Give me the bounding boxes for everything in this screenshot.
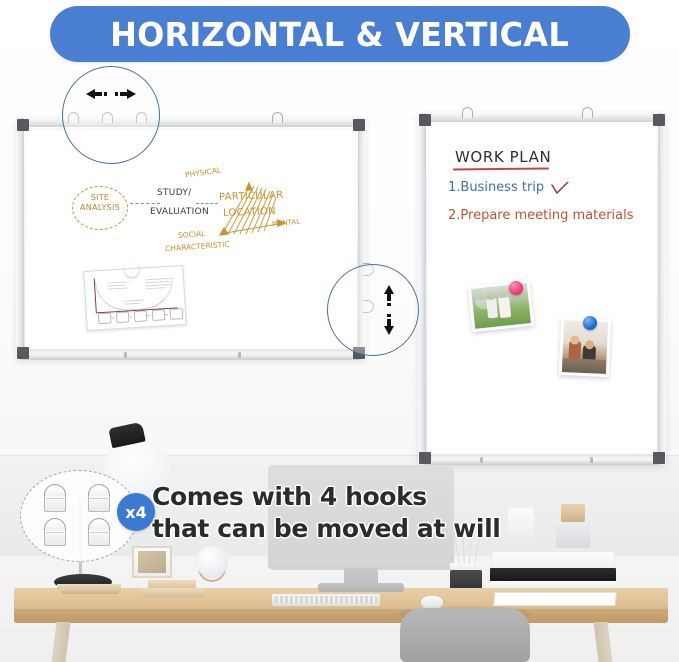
board-corner-top-left	[419, 114, 431, 126]
globe-ornament	[196, 546, 228, 578]
work-plan-item-2: 2.Prepare meeting materials	[448, 208, 634, 223]
board-corner-bottom-left	[17, 347, 29, 359]
hook-icon-slot	[46, 498, 64, 499]
board-pen-tray-vertical	[418, 456, 666, 465]
board-corner-top-right	[353, 119, 365, 131]
feature-headline-line2: that can be moved at will	[152, 513, 552, 545]
chart-note-box	[170, 308, 184, 320]
board-hook-icon[interactable]	[462, 107, 473, 118]
hook-icon-slot	[90, 498, 108, 499]
photo-family-outdoor[interactable]	[468, 280, 534, 332]
site-analysis-line1: SITE	[72, 193, 128, 203]
pen-tray-divider	[480, 457, 483, 463]
hook-icon	[38, 484, 76, 514]
board-pen-tray-horizontal	[16, 351, 366, 360]
board-hook-icon[interactable]	[582, 107, 593, 118]
hook-icon-slot	[46, 532, 64, 533]
chart-note-connector	[147, 315, 150, 316]
vertical-mount-callout	[327, 264, 419, 356]
storage-box-upper	[561, 504, 585, 522]
product-marketing-image: HORIZONTAL & VERTICAL SITE ANALYSIS STUD…	[0, 0, 679, 662]
chart-note-box	[98, 313, 112, 325]
chart-note-connector	[111, 317, 114, 318]
quantity-badge: x4	[117, 493, 155, 531]
hook-icon	[82, 484, 120, 514]
chart-note-box	[134, 310, 148, 322]
printer-middle-unit	[490, 568, 616, 582]
hook-icon-slot	[90, 532, 108, 533]
connector-dash-2	[196, 203, 218, 204]
keyboard-keys	[275, 596, 377, 603]
work-plan-title: WORK PLAN	[455, 148, 551, 166]
board-hook-icon[interactable]	[272, 112, 283, 123]
photo-foreground-band	[562, 358, 607, 374]
triangle-hatch-diagram	[216, 178, 294, 240]
connector-dash-1	[130, 203, 160, 204]
board-corner-bottom-left	[419, 452, 431, 464]
picture-frame-art	[138, 551, 166, 573]
printer-paper-sheet	[493, 592, 616, 606]
site-analysis-label: SITE ANALYSIS	[72, 193, 128, 213]
chart-note-connector	[129, 316, 132, 317]
office-chair	[400, 608, 530, 662]
monitor-base	[318, 583, 404, 592]
study-label-line1: STUDY/	[157, 188, 192, 198]
social-label-line1: SOCIAL	[178, 229, 206, 240]
chart-note-connector	[165, 314, 168, 315]
desk-edge	[14, 609, 668, 623]
site-analysis-line2: ANALYSIS	[72, 203, 128, 213]
vertical-arrows-icon	[381, 283, 397, 337]
horizontal-arrows-icon	[84, 86, 138, 102]
hook-icon	[38, 518, 76, 548]
board-right-rail-vertical	[658, 113, 666, 465]
hooks-icon-grid	[38, 484, 120, 548]
magnet-gold[interactable]	[124, 262, 139, 277]
board-left-rail-vertical	[418, 113, 426, 465]
work-plan-item-1: 1.Business trip	[448, 180, 544, 195]
chart-note-box	[152, 309, 166, 321]
header-banner: HORIZONTAL & VERTICAL	[50, 6, 630, 62]
book-stack-left-bottom	[61, 589, 119, 594]
book-stack-middle-bottom	[142, 588, 204, 598]
checkmark-icon	[551, 182, 569, 196]
horizontal-mount-callout	[62, 66, 160, 164]
pen-tray-divider	[238, 352, 241, 358]
pen-tray-divider	[124, 352, 127, 358]
feature-headline: Comes with 4 hooks that can be moved at …	[152, 481, 552, 545]
magnet-pink[interactable]	[509, 281, 523, 295]
study-label-line2: EVALUATION	[150, 207, 209, 217]
pen-tray-divider	[590, 457, 593, 463]
board-top-rail-vertical	[418, 113, 666, 122]
header-banner-text: HORIZONTAL & VERTICAL	[111, 15, 570, 54]
storage-box-lower	[556, 520, 590, 548]
board-corner-top-right	[653, 114, 665, 126]
board-corner-top-left	[17, 119, 29, 131]
magnet-blue[interactable]	[583, 316, 597, 330]
board-writing-surface-vertical	[427, 123, 657, 454]
feature-headline-line1: Comes with 4 hooks	[152, 481, 552, 513]
board-corner-bottom-right	[653, 452, 665, 464]
board-left-rail-horizontal	[16, 118, 24, 360]
chart-note-box	[116, 311, 130, 323]
hook-icon	[82, 518, 120, 548]
